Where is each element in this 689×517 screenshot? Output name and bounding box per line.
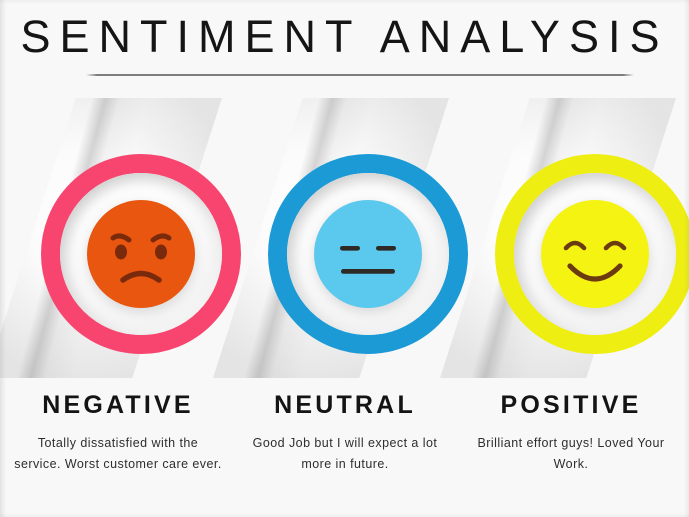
neutral-face-icon [314, 200, 422, 308]
angry-face-icon [87, 200, 195, 308]
caption-title-neutral: NEUTRAL [227, 390, 463, 420]
title-block: SENTIMENT ANALYSIS [0, 0, 689, 96]
caption-text-neutral: Good Job but I will expect a lot more in… [227, 433, 463, 475]
caption-negative: NEGATIVE Totally dissatisfied with the s… [0, 390, 236, 475]
caption-text-positive: Brilliant effort guys! Loved Your Work. [453, 433, 689, 475]
caption-text-negative: Totally dissatisfied with the service. W… [0, 433, 236, 475]
emoji-stack-negative [41, 154, 241, 354]
title-divider [86, 74, 634, 76]
caption-title-positive: POSITIVE [453, 390, 689, 420]
caption-positive: POSITIVE Brilliant effort guys! Loved Yo… [453, 390, 689, 475]
caption-neutral: NEUTRAL Good Job but I will expect a lot… [227, 390, 463, 475]
caption-title-negative: NEGATIVE [0, 390, 236, 420]
page-title: SENTIMENT ANALYSIS [0, 10, 689, 64]
emoji-stack-positive [495, 154, 689, 354]
smiling-face-icon [541, 200, 649, 308]
emoji-stack-neutral [268, 154, 468, 354]
infographic-canvas: SENTIMENT ANALYSIS [0, 0, 689, 517]
